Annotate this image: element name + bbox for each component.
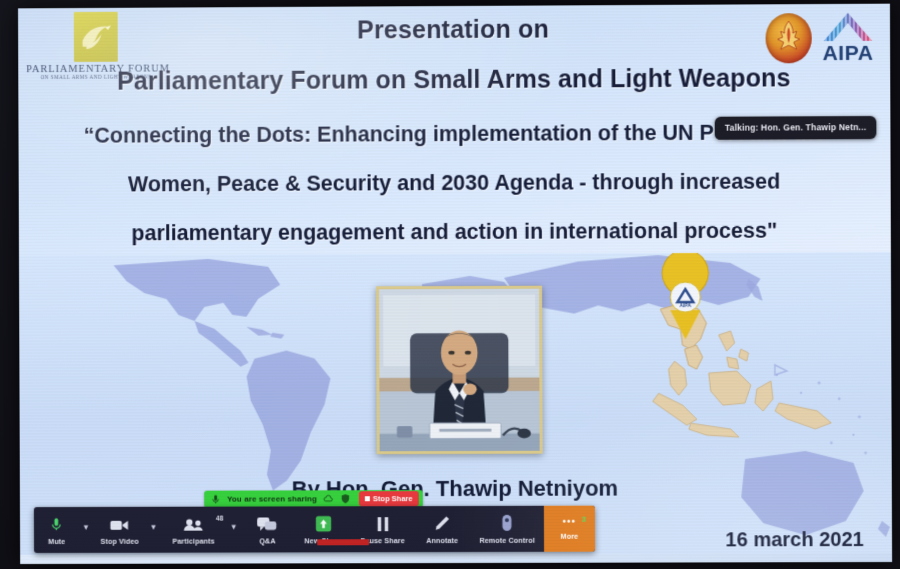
toolbar-button-qa[interactable]: Q&A (240, 506, 295, 552)
participants-count: 48 (216, 516, 223, 523)
more-badge-count: 3 (582, 515, 586, 524)
toolbar-button-pause-share[interactable]: Pause Share (351, 506, 413, 552)
cloud-recording-icon[interactable] (323, 493, 334, 504)
toolbar-button-more[interactable]: ••• 3 More (544, 506, 595, 552)
question-answer-icon (257, 513, 277, 532)
presentation-slide: AIPA PARLIAMENTARY FORUM ON SMALL ARMS A… (18, 4, 892, 564)
toolbar-label-participants: Participants (172, 537, 214, 546)
pause-icon (376, 513, 390, 532)
pencil-icon (434, 513, 450, 532)
toolbar-label-remote-control: Remote Control (479, 536, 534, 545)
toolbar-label-mute: Mute (48, 537, 65, 546)
svg-text:AIPA: AIPA (680, 303, 692, 309)
toolbar-label-qa: Q&A (259, 536, 275, 545)
security-shield-icon[interactable] (340, 493, 351, 504)
toolbar-button-participants[interactable]: 48 Participants (160, 507, 228, 553)
toolbar-button-new-share[interactable]: New Share (295, 506, 352, 552)
stop-square-icon (365, 496, 370, 501)
zoom-toolbar[interactable]: Mute ▾ Stop Video ▾ (34, 506, 595, 553)
microphone-icon (49, 514, 64, 533)
participants-options-caret-icon[interactable]: ▾ (227, 507, 240, 553)
new-share-icon (315, 513, 332, 532)
toolbar-button-remote-control[interactable]: Remote Control (470, 506, 543, 552)
more-dots-icon: ••• (563, 517, 577, 527)
stop-share-button[interactable]: Stop Share (359, 491, 419, 506)
speaker-video-tile[interactable] (376, 286, 543, 455)
aipa-wordmark: AIPA (822, 43, 873, 64)
stop-share-label: Stop Share (373, 494, 413, 503)
speaker-video-frame (379, 289, 540, 452)
slide-title-line-1: Presentation on (18, 14, 890, 48)
mute-options-caret-icon[interactable]: ▾ (79, 507, 92, 553)
participants-icon (182, 514, 204, 533)
new-share-highlight-underline (317, 539, 369, 545)
toolbar-button-mute[interactable]: Mute (34, 507, 80, 553)
screen-sharing-label: You are screen sharing (227, 494, 317, 503)
slide-quote-line-3: parliamentary engagement and action in i… (35, 206, 875, 258)
screen-sharing-bar: You are screen sharing Stop Share (204, 490, 422, 508)
remote-control-icon (501, 513, 513, 532)
photographed-screen: AIPA PARLIAMENTARY FORUM ON SMALL ARMS A… (0, 0, 900, 569)
toolbar-button-annotate[interactable]: Annotate (414, 506, 471, 552)
talking-indicator-chip: Talking: Hon. Gen. Thawip Netn... (715, 116, 877, 140)
slide-title-line-2: Parliamentary Forum on Small Arms and Li… (18, 64, 890, 97)
video-camera-icon (110, 514, 130, 533)
video-options-caret-icon[interactable]: ▾ (147, 507, 160, 553)
microphone-icon[interactable] (210, 494, 221, 505)
toolbar-label-stop-video: Stop Video (101, 537, 139, 546)
slide-date: 16 march 2021 (725, 529, 863, 552)
slide-quote-line-2: Women, Peace & Security and 2030 Agenda … (35, 157, 875, 210)
toolbar-label-annotate: Annotate (426, 536, 458, 545)
slide-byline: By Hon. Gen. Thawip Netniyom (20, 475, 892, 503)
toolbar-button-stop-video[interactable]: Stop Video (92, 507, 147, 553)
toolbar-label-more: More (561, 531, 579, 540)
screen-area: AIPA PARLIAMENTARY FORUM ON SMALL ARMS A… (18, 4, 892, 564)
